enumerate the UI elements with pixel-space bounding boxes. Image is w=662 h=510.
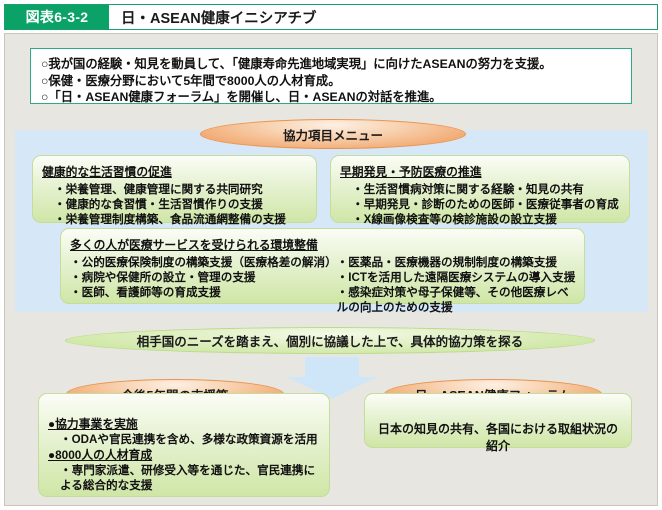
card-healthcare-access-right-column: ・医薬品・医療機器の規制制度の構築支援 ・ICTを活用した遠隔医療システムの導入… xyxy=(337,255,576,315)
card-healthcare-access-left-item-3: ・医師、看護師等の育成支援 xyxy=(70,285,337,300)
cooperation-menu-label: 協力項目メニュー xyxy=(200,119,466,149)
card-healthcare-access: 多くの人が医療サービスを受けられる環境整備 ・公的医療保険制度の構築支援（医療格… xyxy=(60,228,585,304)
card-five-year-support-item-1: ・ODAや官民連携を含め、多様な政策資源を活用 xyxy=(48,432,320,447)
card-healthcare-access-title: 多くの人が医療サービスを受けられる環境整備 xyxy=(70,236,575,253)
card-healthy-lifestyle-item-3: ・栄養管理制度構築、食品流通網整備の支援 xyxy=(42,212,307,227)
summary-line-2: ○保健・医療分野において5年間で8000人の人材育成。 xyxy=(41,73,621,90)
card-healthcare-access-left-item-2: ・病院や保健所の設立・管理の支援 xyxy=(70,270,337,285)
figure-number-badge: 図表6-3-2 xyxy=(5,5,109,29)
card-five-year-support: ●協力事業を実施 ・ODAや官民連携を含め、多様な政策資源を活用 ●8000人の… xyxy=(38,393,330,497)
card-early-detection-item-1: ・生活習慣病対策に関する経験・知見の共有 xyxy=(340,182,620,197)
card-healthy-lifestyle: 健康的な生活習慣の促進 ・栄養管理、健康管理に関する共同研究 ・健康的な食習慣・… xyxy=(32,155,317,223)
card-early-detection-item-2: ・早期発見・診断のための医師・医療従事者の育成 xyxy=(340,197,620,212)
card-early-detection-item-3: ・X線画像検査等の検診施設の設立支援 xyxy=(340,212,620,227)
card-healthcare-access-right-item-2: ・ICTを活用した遠隔医療システムの導入支援 xyxy=(337,270,576,285)
card-healthcare-access-right-item-3: ・感染症対策や母子保健等、その他医療レベルの向上のための支援 xyxy=(337,285,576,315)
card-healthy-lifestyle-item-1: ・栄養管理、健康管理に関する共同研究 xyxy=(42,182,307,197)
card-early-detection-title: 早期発見・予防医療の推進 xyxy=(340,163,620,180)
card-five-year-support-item-2: ・専門家派遣、研修受入等を通じた、官民連携による総合的な支援 xyxy=(48,463,320,493)
figure-header: 図表6-3-2 日・ASEAN健康イニシアチブ xyxy=(4,4,658,30)
needs-discussion-label: 相手国のニーズを踏まえ、個別に協議した上で、具体的協力策を探る xyxy=(65,327,595,354)
card-healthcare-access-left-column: ・公的医療保険制度の構築支援（医療格差の解消） ・病院や保健所の設立・管理の支援… xyxy=(70,255,337,315)
summary-box: ○我が国の経験・知見を動員して、「健康寿命先進地域実現」に向けたASEANの努力… xyxy=(30,48,632,104)
card-healthcare-access-left-item-1: ・公的医療保険制度の構築支援（医療格差の解消） xyxy=(70,255,337,270)
card-healthcare-access-right-item-1: ・医薬品・医療機器の規制制度の構築支援 xyxy=(337,255,576,270)
card-healthy-lifestyle-item-2: ・健康的な食習慣・生活習慣作りの支援 xyxy=(42,197,307,212)
card-asean-health-forum: 日本の知見の共有、各国における取組状況の紹介 xyxy=(364,393,632,448)
summary-line-1: ○我が国の経験・知見を動員して、「健康寿命先進地域実現」に向けたASEANの努力… xyxy=(41,56,621,73)
card-early-detection: 早期発見・予防医療の推進 ・生活習慣病対策に関する経験・知見の共有 ・早期発見・… xyxy=(330,155,630,223)
card-healthy-lifestyle-title: 健康的な生活習慣の促進 xyxy=(42,163,307,180)
card-healthcare-access-columns: ・公的医療保険制度の構築支援（医療格差の解消） ・病院や保健所の設立・管理の支援… xyxy=(70,255,575,315)
summary-line-3: ○「日・ASEAN健康フォーラム」を開催し、日・ASEANの対話を推進。 xyxy=(41,89,621,106)
figure-root: 図表6-3-2 日・ASEAN健康イニシアチブ ○我が国の経験・知見を動員して、… xyxy=(0,0,662,510)
card-asean-health-forum-text: 日本の知見の共有、各国における取組状況の紹介 xyxy=(374,420,622,454)
figure-title: 日・ASEAN健康イニシアチブ xyxy=(109,5,657,29)
card-five-year-support-bullet-1: ●協力事業を実施 xyxy=(48,416,320,432)
card-five-year-support-bullet-2: ●8000人の人材育成 xyxy=(48,447,320,463)
